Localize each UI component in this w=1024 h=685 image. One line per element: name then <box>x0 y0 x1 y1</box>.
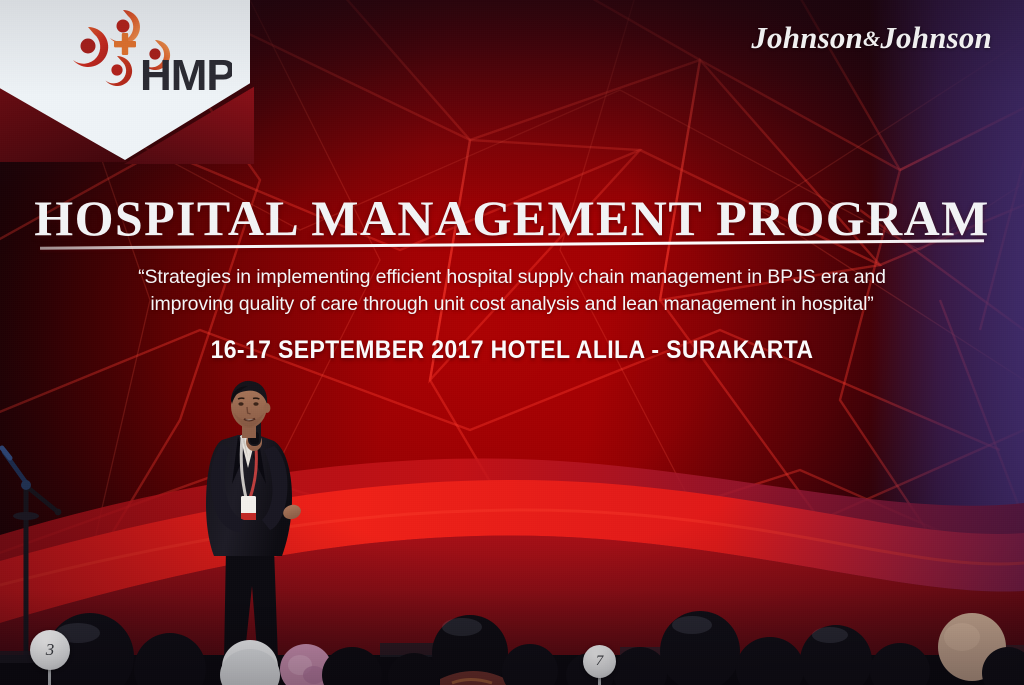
jnj-text-right: Johnson <box>880 20 992 55</box>
svg-text:HMP: HMP <box>140 51 232 100</box>
table-number-sign-3: 3 <box>30 630 70 670</box>
audience-front-row <box>0 575 1024 685</box>
audience-head <box>502 611 930 685</box>
event-subtitle-line-1: “Strategies in implementing efficient ho… <box>50 264 974 291</box>
event-title: HOSPITAL MANAGEMENT PROGRAM <box>0 189 1024 247</box>
event-subtitle: “Strategies in implementing efficient ho… <box>50 264 974 318</box>
table-number-sign-7: 7 <box>583 645 616 678</box>
jnj-ampersand: & <box>863 26 880 51</box>
screenshot-root: HMP Johnson&Johnson HOSPITAL MANAGEMENT … <box>0 0 1024 685</box>
event-date-venue: 16-17 SEPTEMBER 2017 HOTEL ALILA - SURAK… <box>41 336 983 365</box>
event-subtitle-line-2: improving quality of care through unit c… <box>50 291 974 318</box>
jnj-text-left: Johnson <box>751 20 863 55</box>
johnson-and-johnson-logo: Johnson&Johnson <box>751 20 992 56</box>
hmp-logo: HMP <box>62 8 232 100</box>
